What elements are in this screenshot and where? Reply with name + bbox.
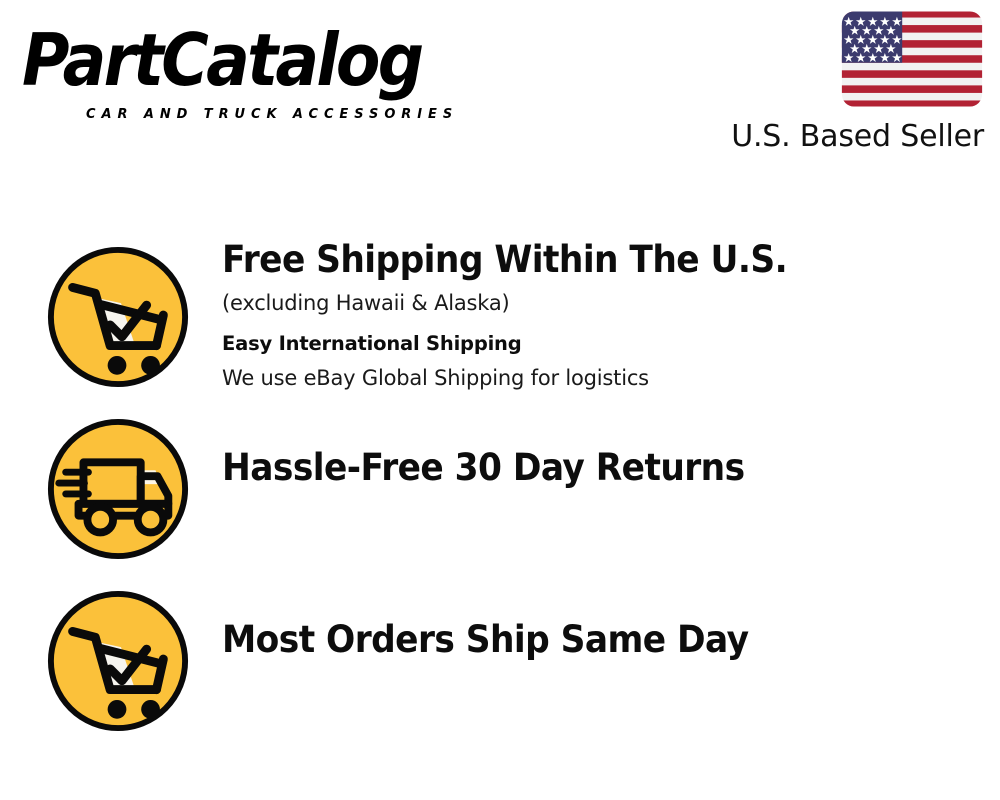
delivery-truck-icon xyxy=(44,415,192,563)
brand-tagline: CAR AND TRUCK ACCESSORIES xyxy=(86,106,458,122)
feature-subheading-international: Easy International Shipping xyxy=(222,329,992,359)
feature-text-same-day-ship: Most Orders Ship Same Day xyxy=(222,616,992,664)
shopping-cart-check-icon xyxy=(44,243,192,391)
feature-list: Free Shipping Within The U.S. (excluding… xyxy=(0,236,1000,752)
feature-subtext-logistics: We use eBay Global Shipping for logistic… xyxy=(222,363,992,394)
us-based-seller-badge: U.S. Based Seller xyxy=(714,10,984,155)
feature-row-returns: Hassle-Free 30 Day Returns xyxy=(0,408,1000,580)
feature-text-free-shipping: Free Shipping Within The U.S. (excluding… xyxy=(222,236,992,394)
feature-heading: Most Orders Ship Same Day xyxy=(222,616,938,664)
feature-text-returns: Hassle-Free 30 Day Returns xyxy=(222,444,992,492)
brand-logo[interactable]: PartCatalog CAR AND TRUCK ACCESSORIES xyxy=(22,24,492,116)
us-flag-icon xyxy=(840,10,984,108)
feature-heading: Hassle-Free 30 Day Returns xyxy=(222,444,938,492)
feature-heading: Free Shipping Within The U.S. xyxy=(222,236,938,284)
brand-wordmark: PartCatalog xyxy=(22,24,421,96)
seller-badge-label: U.S. Based Seller xyxy=(714,119,984,155)
feature-row-free-shipping: Free Shipping Within The U.S. (excluding… xyxy=(0,236,1000,408)
shopping-cart-check-icon xyxy=(44,587,192,735)
feature-row-same-day-ship: Most Orders Ship Same Day xyxy=(0,580,1000,752)
feature-subtext-exclusions: (excluding Hawaii & Alaska) xyxy=(222,288,992,319)
